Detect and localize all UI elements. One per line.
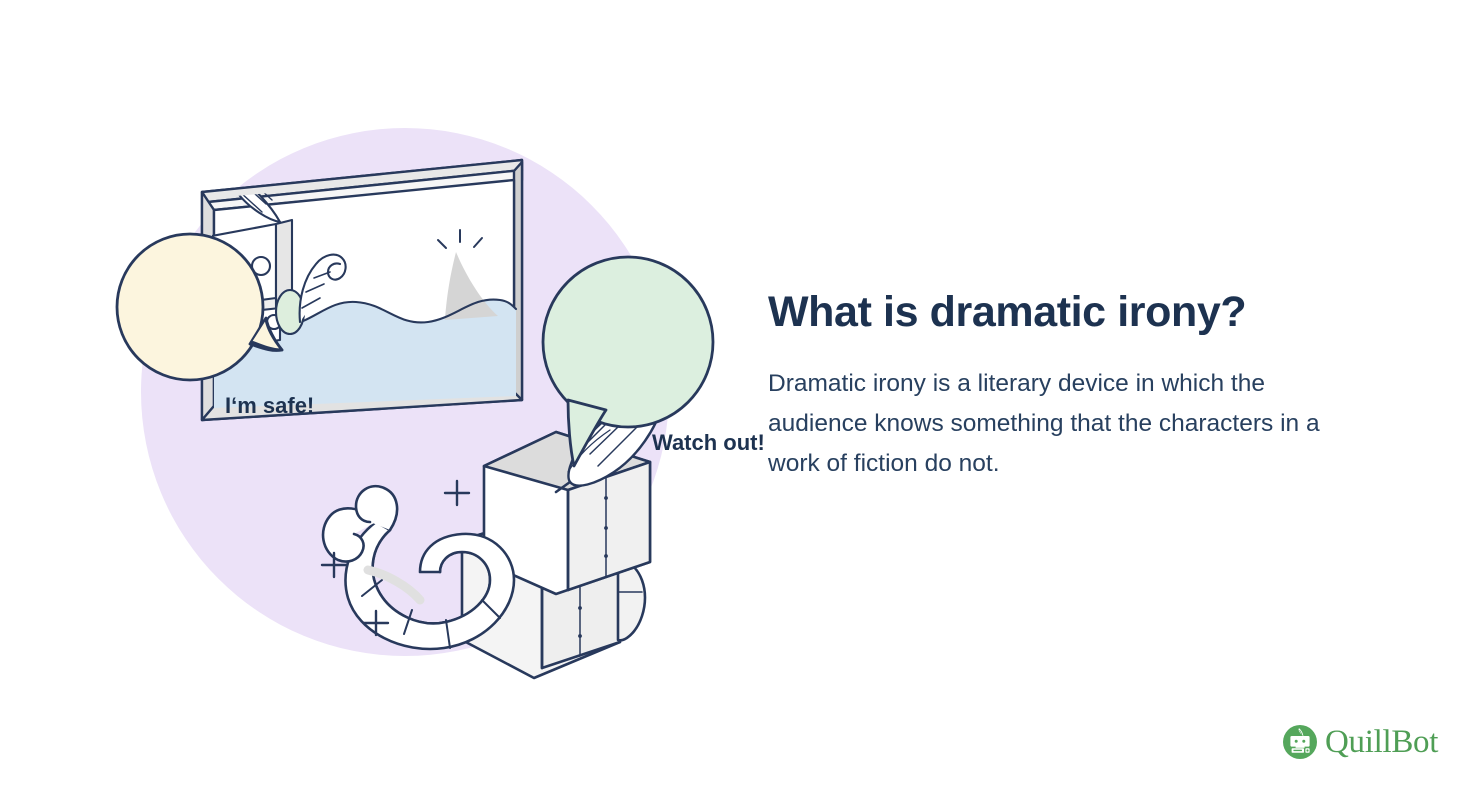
quillbot-logo[interactable]: QuillBot [1282,724,1438,760]
quillbot-wordmark: QuillBot [1325,726,1438,759]
text-block: What is dramatic irony? Dramatic irony i… [768,288,1388,484]
page-title: What is dramatic irony? [768,288,1388,338]
hero-illustration: I‘m safe! Watch out! [90,100,750,700]
slide-canvas: I‘m safe! Watch out! What is dramatic ir… [0,0,1472,806]
page-description: Dramatic irony is a literary device in w… [768,364,1328,484]
quillbot-robot-icon [1282,724,1318,760]
